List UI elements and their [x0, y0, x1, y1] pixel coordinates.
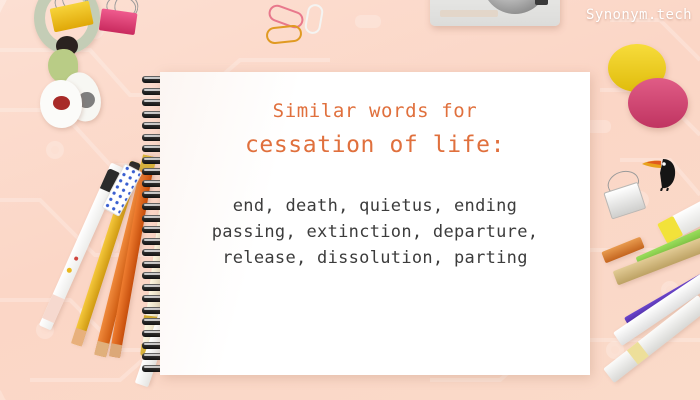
desk-scene: Similar words for cessation of life: end…	[0, 0, 700, 400]
synonym-list: end, death, quietus, ending passing, ext…	[160, 193, 590, 271]
synonym-card: Similar words for cessation of life: end…	[160, 72, 590, 271]
toucan-figurine	[637, 153, 679, 191]
eraser-pair	[40, 70, 116, 126]
synonym-line: passing, extinction, departure,	[160, 219, 590, 245]
card-title-prefix: Similar words for	[160, 100, 590, 123]
card-title-term: cessation of life:	[160, 132, 590, 160]
synonym-line: release, dissolution, parting	[160, 245, 590, 271]
synonym-line: end, death, quietus, ending	[160, 193, 590, 219]
macaron-pink	[628, 78, 688, 128]
notebook-page: Similar words for cessation of life: end…	[160, 72, 590, 375]
camera	[430, 0, 560, 32]
binder-clip-pink	[98, 5, 142, 40]
site-watermark: Synonym.tech	[586, 7, 692, 23]
